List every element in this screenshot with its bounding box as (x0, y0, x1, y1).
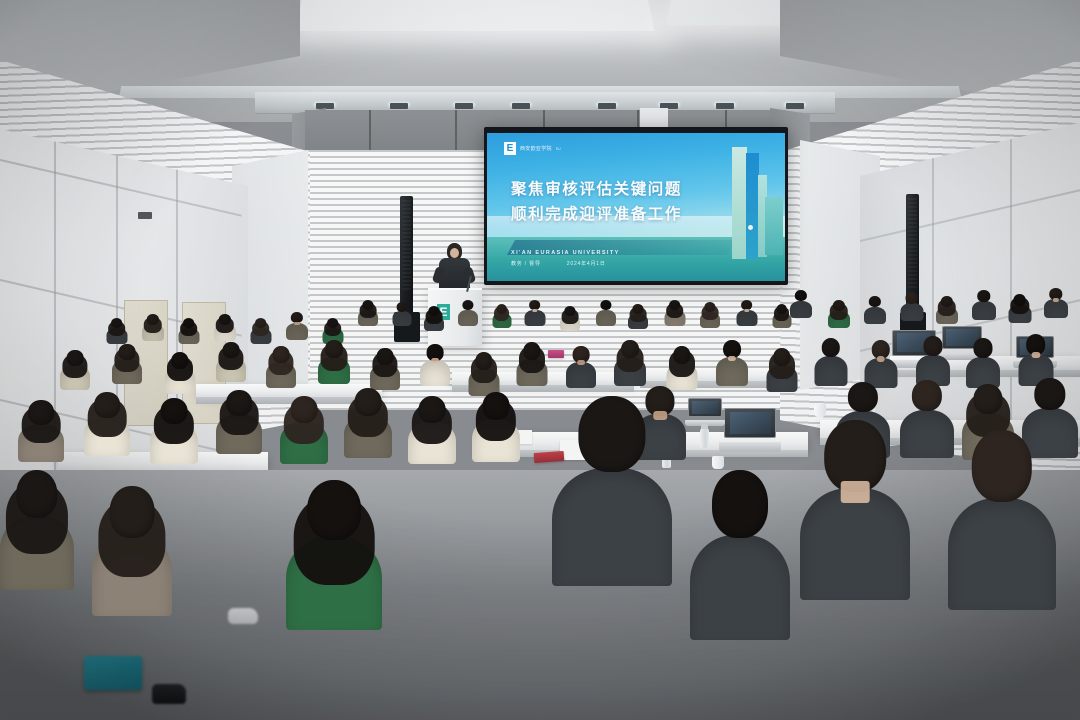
audience-head (977, 290, 990, 302)
audience-head (16, 470, 57, 518)
audience-head (325, 340, 343, 358)
audience-member (266, 346, 296, 388)
audience-member (560, 306, 580, 331)
audience-body (420, 360, 450, 386)
audience-head (905, 292, 918, 304)
audience-head (869, 296, 881, 307)
slide-logo-text: 西安欧亚学院 (520, 145, 552, 152)
audience-body (948, 498, 1056, 610)
audience-member (112, 344, 142, 384)
audience-member (772, 304, 791, 328)
audience-head (428, 306, 439, 316)
audience-head (523, 342, 540, 360)
pink-item (548, 350, 564, 358)
exit-sign (138, 212, 152, 219)
audience-member (966, 338, 1000, 388)
ceiling-fixture-8 (786, 103, 804, 109)
laptop-1[interactable] (724, 408, 776, 452)
audience-member (392, 302, 411, 326)
audience-head (462, 300, 473, 310)
slide-accent-dot (748, 225, 753, 230)
slide-footer-department: 教务 / 督导 (511, 260, 541, 267)
audience-member (948, 430, 1056, 610)
projection-screen[interactable]: E 西安欧亚学院 EU 聚焦审核评估关键问题 顺利完成迎评准备工作 XI'AN … (487, 133, 785, 281)
audience-head (183, 318, 195, 328)
audience-member (1008, 294, 1031, 323)
audience-body (972, 301, 996, 320)
audience-member (92, 486, 172, 616)
ceiling-fixture-2 (390, 103, 408, 109)
audience-head (973, 338, 992, 358)
audience-member (972, 290, 996, 320)
audience-head (255, 318, 267, 328)
audience-member (736, 300, 757, 326)
audience-member (828, 300, 850, 328)
water-bottle-1[interactable] (700, 428, 709, 448)
audience-member (492, 304, 511, 328)
audience-body (392, 311, 411, 326)
audience-member (142, 314, 164, 341)
audience-member (814, 338, 847, 386)
audience-neck (577, 360, 585, 365)
audience-head (673, 346, 690, 364)
audience-member (424, 306, 444, 331)
audience-head (1013, 294, 1026, 306)
audience-head (973, 384, 1002, 414)
audience-head (94, 392, 120, 418)
audience-member (936, 296, 958, 324)
audience-neck (728, 356, 736, 362)
audience-member (344, 388, 392, 458)
audience-head (821, 338, 839, 357)
audience-member (286, 480, 382, 630)
audience-body (286, 323, 308, 340)
audience-member (150, 398, 198, 464)
audience-body (716, 357, 748, 386)
audience-member (716, 340, 748, 386)
audience-head (307, 480, 361, 540)
audience-head (1034, 378, 1065, 410)
audience-head (578, 396, 645, 472)
audience-member (690, 470, 790, 640)
audience-member (106, 318, 127, 344)
audience-member (628, 304, 648, 329)
audience-head (161, 398, 188, 424)
audience-head (377, 348, 394, 365)
audience-head (226, 390, 252, 416)
audience-head (941, 296, 953, 307)
audience-member (664, 300, 685, 326)
audience-head (111, 318, 123, 328)
audience-body (596, 310, 616, 326)
audience-member (700, 302, 720, 328)
audience-member (864, 296, 886, 324)
audience-head (621, 340, 639, 358)
audience-member (524, 300, 545, 326)
audience-member (318, 340, 350, 384)
audience-body (864, 307, 886, 324)
audience-head (475, 352, 492, 370)
audience-member (472, 392, 520, 462)
slide-logo-superscript: EU (556, 147, 561, 151)
audience-neck (841, 481, 870, 503)
audience-body (566, 362, 596, 388)
slide-footer-university: XI'AN EURASIA UNIVERSITY (511, 250, 620, 256)
slide-building-graphic-a (732, 147, 747, 259)
audience-member (216, 342, 246, 382)
slide-title: 聚焦审核评估关键问题 顺利完成迎评准备工作 (511, 177, 682, 227)
audience-head (923, 336, 942, 356)
audience-head (110, 486, 155, 538)
dark-shoe (152, 684, 186, 704)
audience-body (1044, 299, 1068, 318)
audience-body (800, 488, 910, 600)
audience-body (690, 535, 790, 640)
ceiling-fixture-7 (716, 103, 734, 109)
audience-member (18, 400, 64, 462)
audience-member (214, 314, 236, 341)
audience-head (171, 352, 188, 369)
audience-head (419, 396, 446, 423)
audience-head (632, 304, 643, 314)
audience-member (614, 340, 646, 386)
audience-neck (431, 358, 439, 363)
cup-2[interactable] (814, 404, 826, 417)
audience-member (596, 300, 616, 326)
audience-member (552, 396, 672, 586)
skylight-panel-left (296, 0, 655, 31)
speaker-column-left (400, 196, 413, 314)
audience-head (396, 302, 407, 312)
slide-footer-meta: 教务 / 督导 2024年4月1日 (511, 260, 620, 267)
audience-head (483, 392, 510, 420)
audience-head (712, 470, 768, 538)
audience-member (164, 352, 195, 394)
audience-member (516, 342, 547, 386)
audience-member (864, 340, 897, 388)
audience-member (666, 346, 697, 390)
ceiling-fixture-1 (316, 103, 334, 109)
audience-head (147, 314, 159, 325)
audience-neck (876, 356, 885, 362)
audience-member (458, 300, 478, 326)
slide-title-line-1: 聚焦审核评估关键问题 (511, 177, 682, 202)
audience-member (358, 300, 378, 326)
slide-logo-mark: E (504, 142, 516, 155)
audience-neck (1053, 298, 1059, 302)
audience-head (564, 306, 575, 316)
audience-head (600, 300, 611, 310)
audience-head (291, 396, 318, 423)
slide-footer: XI'AN EURASIA UNIVERSITY 教务 / 督导 2024年4月… (511, 250, 620, 267)
audience-head (223, 342, 240, 358)
audience-neck (294, 322, 300, 325)
slide-footer-date: 2024年4月1日 (567, 260, 606, 267)
audience-head (28, 400, 54, 425)
audience-member (286, 312, 308, 340)
audience-member (408, 396, 456, 464)
slide-title-line-2: 顺利完成迎评准备工作 (511, 202, 682, 227)
audience-member (84, 392, 130, 456)
audience-member (1044, 288, 1068, 318)
ceiling-fixture-4 (512, 103, 530, 109)
audience-member (916, 336, 950, 386)
audience-head (848, 382, 878, 412)
audience-body (736, 310, 757, 326)
audience-neck (1031, 352, 1040, 358)
audience-head (327, 318, 339, 328)
audience-head (119, 344, 136, 360)
audience-head (972, 430, 1032, 502)
audience-head (833, 300, 845, 311)
audience-head (773, 348, 790, 366)
audience-head (219, 314, 231, 325)
white-shoe (228, 608, 258, 624)
audience-member (566, 346, 596, 388)
audience-head (355, 388, 382, 416)
presenter-face (450, 248, 459, 258)
audience-member (468, 352, 499, 396)
audience-head (795, 290, 807, 301)
conference-room-photo: E 西安欧亚学院 EU 聚焦审核评估关键问题 顺利完成迎评准备工作 XI'AN … (0, 0, 1080, 720)
audience-member (0, 470, 74, 590)
audience-member (250, 318, 271, 344)
audience-member (900, 292, 923, 321)
audience-member (60, 350, 90, 390)
audience-member (280, 396, 328, 464)
slide-building-graphic-d (765, 197, 783, 255)
audience-member (178, 318, 199, 344)
audience-body (458, 310, 478, 326)
audience-member (420, 344, 450, 386)
audience-head (912, 380, 942, 411)
audience-head (496, 304, 507, 314)
audience-head (776, 304, 787, 314)
audience-member (370, 348, 400, 390)
audience-head (273, 346, 290, 363)
audience-member (790, 290, 812, 318)
ceiling-fixture-5 (598, 103, 616, 109)
cup-1[interactable] (712, 456, 724, 469)
audience-body (790, 301, 812, 318)
audience-member (800, 420, 910, 600)
laptop-4[interactable] (688, 398, 722, 426)
audience-body (900, 303, 923, 321)
audience-member (216, 390, 262, 454)
audience-head (669, 300, 681, 310)
audience-member (766, 348, 797, 392)
audience-body (524, 310, 545, 326)
ceiling-fixture-3 (455, 103, 473, 109)
audience-body (552, 468, 672, 586)
slide-logo: E 西安欧亚学院 EU (504, 142, 561, 155)
teal-bag-on-floor[interactable] (84, 656, 142, 690)
audience-head (67, 350, 84, 366)
